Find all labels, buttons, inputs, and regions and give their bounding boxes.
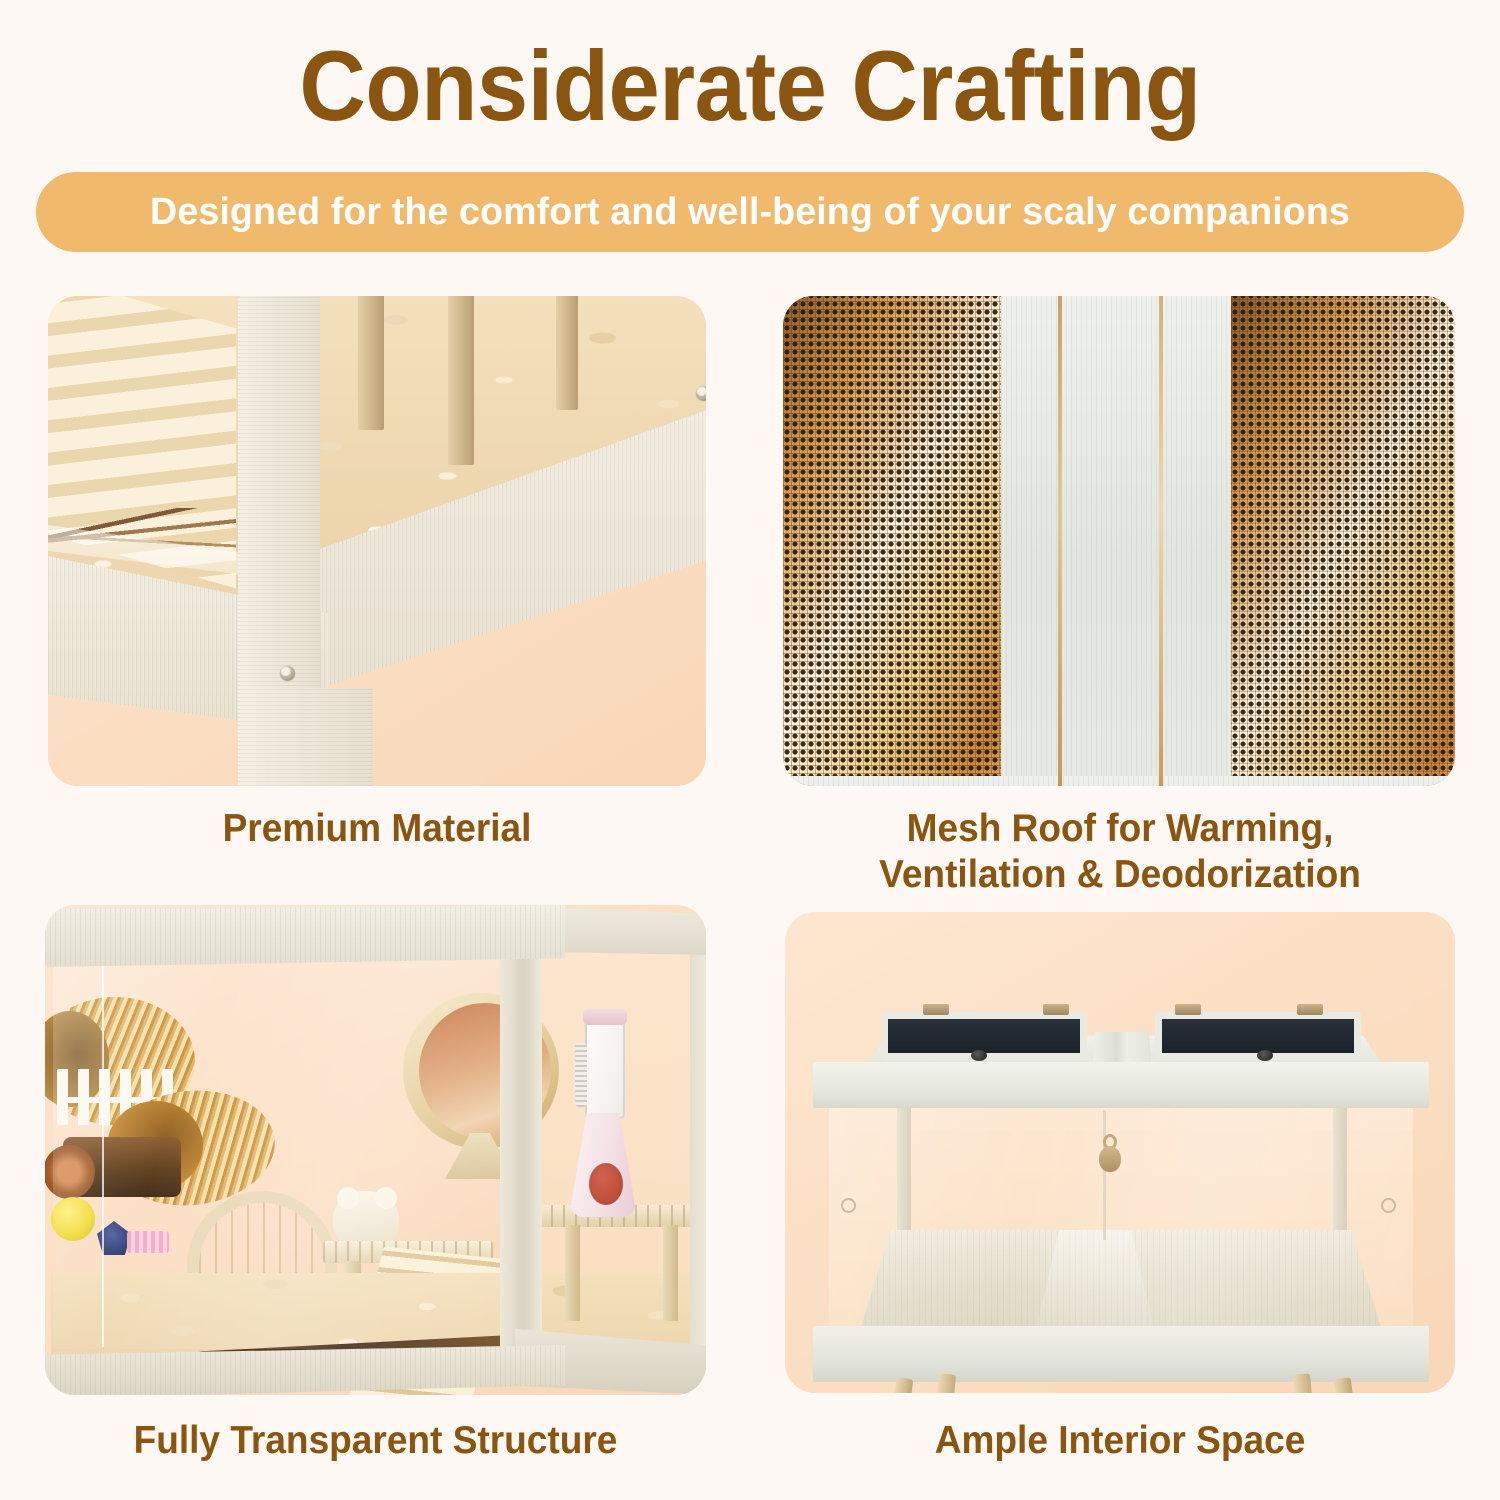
feature-photo-mesh-roof: [783, 296, 1455, 786]
feature-photo-transparent-structure: [45, 905, 706, 1395]
top-frame-rail: [45, 905, 565, 967]
lid-hinge: [923, 1004, 949, 1015]
corner-post: [500, 931, 542, 1351]
mesh-screen-panel-right: [1231, 296, 1455, 786]
support-post: [448, 296, 474, 465]
caption-line: Mesh Roof for Warming,: [778, 806, 1462, 852]
lid-hinge: [1043, 1004, 1069, 1015]
infographic-page: Considerate Crafting Designed for the co…: [0, 0, 1500, 1500]
caption-mesh-roof: Mesh Roof for Warming, Ventilation & Deo…: [778, 806, 1462, 898]
feature-photo-premium-material: [48, 296, 706, 786]
caption-line: Ample Interior Space: [802, 1418, 1439, 1464]
lid-hinge: [1175, 1004, 1201, 1015]
assembly-screw-icon: [280, 666, 295, 681]
photo-transparent-structure: [45, 905, 706, 1395]
subtitle-text: Designed for the comfort and well-being …: [150, 191, 1350, 234]
photo-ample-interior: [785, 912, 1455, 1393]
caption-transparent-structure: Fully Transparent Structure: [62, 1418, 690, 1464]
side-vent-hole: [1381, 1198, 1396, 1213]
mesh-screen-panel-left: [783, 296, 1001, 786]
caption-premium-material: Premium Material: [64, 806, 689, 852]
photo-premium-material: [48, 296, 706, 786]
door-handle-icon: [1099, 1146, 1121, 1172]
feature-photo-ample-interior: [785, 912, 1455, 1393]
lid-hinge: [1297, 1004, 1323, 1015]
water-bottle-spout: [575, 1043, 587, 1107]
side-vent-hole: [841, 1198, 856, 1213]
caption-line: Ventilation & Deodorization: [778, 852, 1462, 898]
top-frame-band: [813, 1062, 1429, 1108]
shelf-leg: [565, 1225, 580, 1321]
lid-knob: [971, 1050, 987, 1061]
photo-mesh-roof: [783, 296, 1455, 786]
caption-ample-interior: Ample Interior Space: [802, 1418, 1439, 1464]
caption-line: Premium Material: [64, 806, 689, 852]
sliding-glass-doors: [829, 1108, 1413, 1330]
glass-door-seam: [1103, 1110, 1106, 1240]
support-post: [556, 296, 578, 410]
page-title: Considerate Crafting: [53, 34, 1448, 138]
assembly-screw-icon: [696, 386, 706, 401]
roof-seam: [1058, 296, 1062, 786]
acrylic-panel-seam: [102, 957, 104, 1347]
roof-front-board: [783, 776, 1455, 786]
support-post: [358, 296, 384, 430]
water-bottle-accent: [589, 1163, 623, 1205]
shelf-leg: [663, 1225, 678, 1321]
caption-line: Fully Transparent Structure: [62, 1418, 690, 1464]
base-frame-band: [813, 1326, 1429, 1382]
acrylic-front-panel: [53, 957, 505, 1349]
roof-center-divider: [1093, 1032, 1151, 1062]
lid-knob: [1257, 1050, 1273, 1061]
water-bottle-cap: [583, 1009, 627, 1025]
roof-seam: [1159, 296, 1163, 786]
right-frame-edge: [690, 945, 706, 1365]
base-front-board: [238, 688, 373, 786]
water-bottle-tube: [585, 1019, 625, 1119]
subtitle-banner: Designed for the comfort and well-being …: [36, 172, 1464, 252]
roof-center-board: [1001, 296, 1231, 786]
